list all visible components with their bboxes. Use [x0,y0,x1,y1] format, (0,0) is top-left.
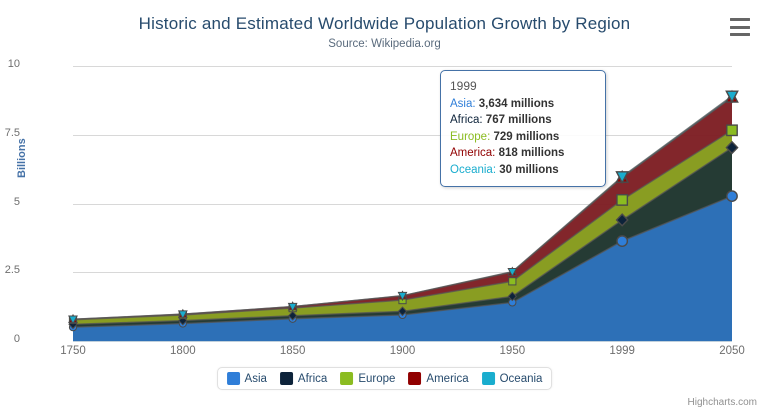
tooltip-row: Europe: 729 millions [450,129,596,146]
x-axis-tick-label: 1950 [500,345,526,357]
tooltip-header: 1999 [450,78,596,95]
series-areas [73,66,732,341]
marker-europe[interactable] [617,195,627,205]
marker-asia[interactable] [727,191,737,201]
x-axis-tick-label: 1850 [280,345,306,357]
menu-bar-2 [730,26,750,29]
legend-item-oceania[interactable]: Oceania [482,372,543,385]
menu-bar-3 [730,33,750,36]
tooltip-row: Africa: 767 millions [450,112,596,129]
x-axis-tick-label: 2050 [719,345,745,357]
chart-legend[interactable]: AsiaAfricaEuropeAmericaOceania [217,367,553,390]
x-axis-line [73,341,732,342]
chart-subtitle: Source: Wikipedia.org [0,38,769,50]
marker-europe[interactable] [727,125,737,135]
legend-label: America [426,373,468,385]
legend-swatch-icon [227,372,240,385]
legend-swatch-icon [408,372,421,385]
legend-item-europe[interactable]: Europe [340,372,395,385]
tooltip-series-value: 767 millions [486,114,552,126]
legend-item-asia[interactable]: Asia [227,372,267,385]
legend-label: Oceania [500,373,543,385]
marker-europe[interactable] [509,278,516,285]
tooltip-series-value: 729 millions [493,131,559,143]
tooltip-series-name: America: [450,147,499,159]
tooltip-series-name: Africa: [450,114,486,126]
legend-label: Asia [245,373,267,385]
x-axis-tick-label: 1750 [60,345,86,357]
tooltip-series-name: Oceania: [450,164,499,176]
tooltip: 1999 Asia: 3,634 millionsAfrica: 767 mil… [440,70,606,187]
legend-swatch-icon [340,372,353,385]
highcharts-container: Historic and Estimated Worldwide Populat… [0,0,769,416]
tooltip-series-value: 30 millions [499,164,558,176]
y-axis-title: Billions [16,138,28,178]
menu-bar-1 [730,18,750,21]
tooltip-series-value: 818 millions [499,147,565,159]
chart-title: Historic and Estimated Worldwide Populat… [0,14,769,34]
x-axis-tick-label: 1900 [390,345,416,357]
tooltip-series-name: Europe: [450,131,493,143]
tooltip-series-name: Asia: [450,98,479,110]
legend-item-america[interactable]: America [408,372,468,385]
plot-area [73,66,732,341]
legend-label: Africa [298,373,327,385]
tooltip-row: Oceania: 30 millions [450,162,596,179]
legend-label: Europe [358,373,395,385]
legend-item-africa[interactable]: Africa [280,372,327,385]
tooltip-rows: Asia: 3,634 millionsAfrica: 767 millions… [450,96,596,179]
tooltip-series-value: 3,634 millions [479,98,554,110]
credit-label: Highcharts.com [688,397,757,408]
legend-swatch-icon [280,372,293,385]
x-axis-tick-label: 1999 [609,345,635,357]
marker-asia[interactable] [617,236,627,246]
x-axis-tick-label: 1800 [170,345,196,357]
hamburger-menu-icon[interactable] [729,17,751,37]
tooltip-row: America: 818 millions [450,145,596,162]
legend-swatch-icon [482,372,495,385]
tooltip-row: Asia: 3,634 millions [450,96,596,113]
